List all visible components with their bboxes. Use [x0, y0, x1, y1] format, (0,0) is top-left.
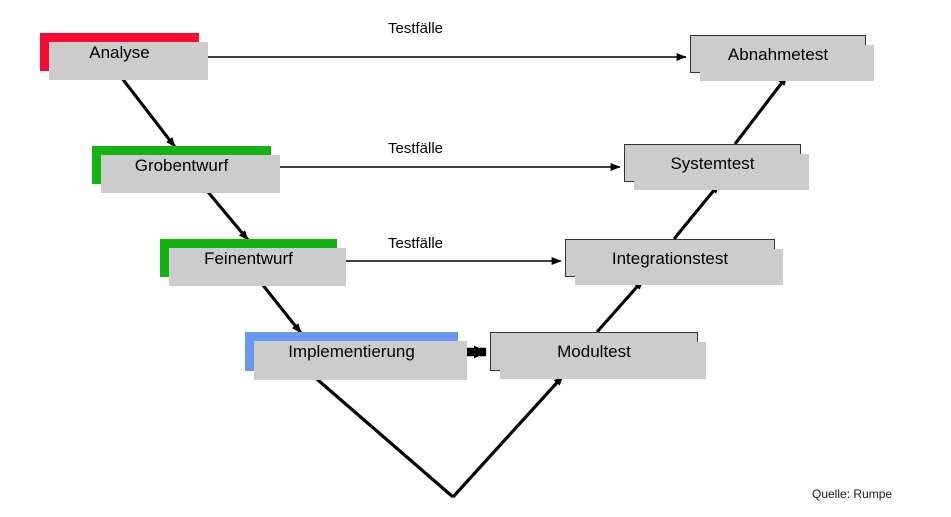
node-integrationstest[interactable]: Integrationstest: [565, 239, 775, 277]
node-grobentwurf-label: Grobentwurf: [135, 157, 229, 174]
node-analyse-label: Analyse: [89, 44, 149, 61]
label-testfaelle-2: Testfälle: [388, 140, 443, 157]
node-integrationstest-label: Integrationstest: [612, 250, 728, 267]
node-systemtest-label: Systemtest: [670, 155, 754, 172]
v-model-diagram: Analyse Grobentwurf Feinentwurf Implemen…: [0, 0, 951, 517]
source-note: Quelle: Rumpe: [812, 487, 892, 501]
node-implementierung[interactable]: Implementierung: [245, 332, 458, 371]
connector-feinentwurf-to-implementierung: [258, 279, 301, 333]
node-abnahmetest[interactable]: Abnahmetest: [690, 35, 866, 73]
connector-modultest-to-integrationstest: [597, 280, 643, 332]
label-testfaelle-1: Testfälle: [388, 20, 443, 37]
node-analyse[interactable]: Analyse: [40, 33, 199, 71]
node-grobentwurf[interactable]: Grobentwurf: [92, 146, 271, 184]
connector-implementierung-to-vertex: [311, 374, 453, 497]
label-testfaelle-3: Testfälle: [388, 235, 443, 252]
connector-grobentwurf-to-feinentwurf: [203, 186, 248, 240]
node-feinentwurf-label: Feinentwurf: [204, 250, 293, 267]
node-systemtest[interactable]: Systemtest: [624, 144, 801, 182]
node-modultest[interactable]: Modultest: [490, 332, 698, 371]
node-abnahmetest-label: Abnahmetest: [728, 46, 828, 63]
connector-integrationstest-to-systemtest: [674, 184, 719, 239]
node-modultest-label: Modultest: [557, 343, 631, 360]
node-implementierung-label: Implementierung: [288, 343, 415, 360]
node-feinentwurf[interactable]: Feinentwurf: [160, 239, 337, 277]
connector-vertex-to-modultest: [453, 376, 563, 497]
connector-systemtest-to-abnahmetest: [735, 76, 787, 144]
connector-analyse-to-grobentwurf: [118, 73, 175, 147]
